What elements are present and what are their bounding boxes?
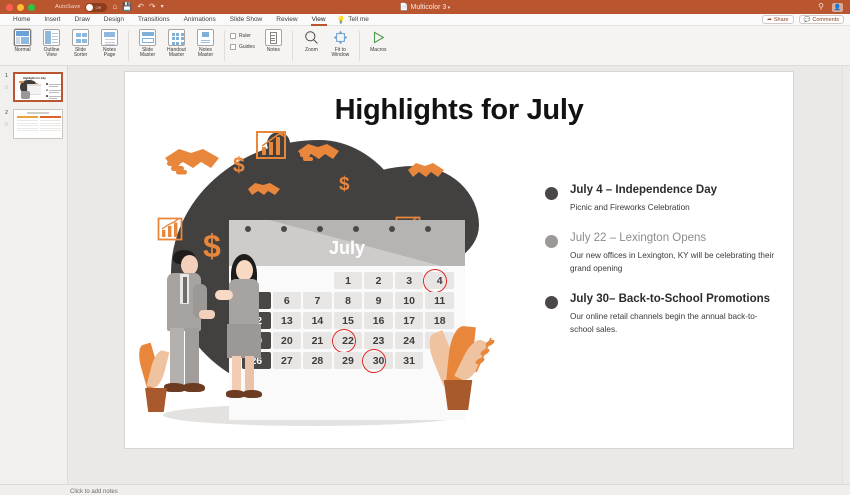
tab-draw[interactable]: Draw [68,14,97,26]
handshake-icon [163,144,225,178]
autosave-label: AutoSave [55,4,80,10]
normal-view-label: Normal [14,48,30,54]
thumb2-table-right [40,116,61,133]
calendar-rings [229,226,465,234]
window-controls[interactable] [0,4,35,11]
calendar-day: 29 [334,352,363,369]
ribbon-group-show: Ruler Guides Notes [225,29,292,65]
ribbon-group-master-views: Slide Master Handout Master Notes Master [129,29,224,65]
bullet-text-block: July 22 – Lexington OpensOur new offices… [570,232,777,275]
tell-me-label: Tell me [348,16,369,23]
show-checkboxes: Ruler Guides [230,29,255,50]
thumbnail-item-1[interactable]: 1 ☆ Highlights for July [0,70,67,107]
handout-master-icon [168,29,185,46]
calendar-day: 3 [395,272,424,289]
maximize-window-button[interactable] [28,4,35,11]
bullet-body: Our online retail channels begin the ann… [570,310,777,336]
slide-master-label: Slide Master [140,48,155,59]
tab-bar-actions: ➦ Share 💬 Comments [762,15,850,24]
bar-chart-icon [157,217,183,241]
calendar-day: 30 [364,352,393,369]
thumbnail-preview-2[interactable] [13,109,63,139]
slide-sorter-label: Slide Sorter [74,48,88,59]
handshake-icon [297,140,341,166]
account-icon[interactable]: 👤 [832,3,843,12]
close-window-button[interactable] [6,4,13,11]
autosave-toggle[interactable]: Off [85,3,107,12]
bullet-heading: July 30– Back-to-School Promotions [570,293,777,305]
presentation-file-icon: 📄 [400,4,409,11]
thumb1-bullet-dot-3 [46,95,48,97]
slide-title[interactable]: Highlights for July [125,94,793,127]
bullet-dot-icon [545,187,558,200]
fit-to-window-label: Fit to Window [331,48,349,59]
tab-review[interactable]: Review [269,14,304,26]
workspace: 1 ☆ Highlights for July [0,66,850,484]
notes-master-label: Notes Master [198,48,213,59]
autosave-state: Off [95,5,100,10]
thumbnail-preview-1[interactable]: Highlights for July [13,72,63,102]
bullet-text-block: July 4 – Independence DayPicnic and Fire… [570,184,717,214]
notes-page-button[interactable]: Notes Page [96,29,123,59]
thumb1-bullet-line-3 [49,96,61,97]
notes-toggle-label: Notes [267,48,280,54]
thumb1-bullet-line-1b [49,86,58,87]
thumb1-bullet-line-2b [49,92,59,93]
tab-home[interactable]: Home [6,14,37,26]
bullet-item[interactable]: July 4 – Independence DayPicnic and Fire… [545,184,777,214]
guides-label: Guides [239,44,255,50]
bullet-heading: July 22 – Lexington Opens [570,232,777,244]
calendar-day: 17 [395,312,424,329]
share-button[interactable]: ➦ Share [762,15,793,24]
calendar-day: 31 [395,352,424,369]
play-triangle-icon [370,29,387,46]
calendar-day: 15 [334,312,363,329]
save-icon[interactable]: 💾 [122,3,132,11]
slide-sorter-icon [72,29,89,46]
calendar-day: 21 [303,332,332,349]
thumb1-bullet-dot-2 [46,89,48,91]
bullet-dot-icon [545,296,558,309]
potted-plant-icon [137,344,177,414]
slide-sorter-button[interactable]: Slide Sorter [67,29,94,59]
thumb2-header [27,112,49,114]
slide-canvas[interactable]: Highlights for July [125,72,793,448]
slide-master-button[interactable]: Slide Master [134,29,161,59]
animation-star-icon[interactable]: ☆ [4,122,9,128]
minimize-window-button[interactable] [17,4,24,11]
tab-slide-show[interactable]: Slide Show [223,14,270,26]
comment-icon: 💬 [804,17,811,23]
calendar-day: 16 [364,312,393,329]
search-icon[interactable]: ⚲ [818,3,824,11]
business-woman-figure [217,254,279,412]
home-icon[interactable]: ⌂ [112,3,117,11]
flower-pot [441,380,475,410]
notes-toggle-button[interactable]: Notes [260,29,287,53]
calendar-day: 10 [395,292,424,309]
ribbon-group-zoom: Zoom Fit to Window [293,29,359,65]
zoom-label: Zoom [305,48,318,54]
thumb2-table-left-head [17,116,38,118]
undo-icon[interactable]: ↶ [137,3,144,11]
tab-design[interactable]: Design [97,14,131,26]
fit-window-icon [332,29,349,46]
calendar-day: 11 [425,292,454,309]
calendar-day: 9 [364,292,393,309]
comments-label: Comments [812,17,839,23]
thumb2-table-left [17,116,38,133]
lightbulb-icon: 💡 [337,16,346,24]
tab-transitions[interactable]: Transitions [131,14,177,26]
bullet-body: Our new offices in Lexington, KY will be… [570,249,777,275]
thumb1-bullet-dot-1 [46,83,48,85]
calendar-day: 4 [425,272,454,289]
normal-view-icon [14,29,31,46]
bullet-text-block: July 30– Back-to-School PromotionsOur on… [570,293,777,336]
calendar-day: 23 [364,332,393,349]
calendar-day: 22 [334,332,363,349]
notes-page-icon [101,29,118,46]
thumbnail-number: 1 [5,73,8,79]
handout-master-button[interactable]: Handout Master [163,29,190,59]
notes-icon [265,29,282,46]
fit-to-window-button[interactable]: Fit to Window [327,29,354,59]
notes-placeholder[interactable]: Click to add notes [70,489,118,495]
tab-animations[interactable]: Animations [177,14,223,26]
magnifier-icon [303,29,320,46]
ribbon-tab-bar: Home Insert Draw Design Transitions Anim… [0,14,850,26]
outline-view-label: Outline View [44,48,60,59]
notes-master-button[interactable]: Notes Master [192,29,219,59]
normal-view-button[interactable]: Normal [9,29,36,53]
title-bar-right: ⚲ 👤 [818,3,850,12]
ribbon-view-tab: Normal Outline View Slide Sorter Notes P… [0,26,850,66]
animation-star-icon[interactable]: ☆ [4,85,9,91]
thumbnail-item-2[interactable]: 2 ☆ [0,107,67,144]
ruler-label: Ruler [239,33,251,39]
more-icon[interactable]: ▾ [161,4,164,10]
calendar-day: 14 [303,312,332,329]
thumb1-people [21,91,30,99]
title-bar: AutoSave Off ⌂ 💾 ↶ ↷ ▾ 📄Multicolor 3 ▾ ⚲… [0,0,850,14]
bullet-body: Picnic and Fireworks Celebration [570,201,717,214]
calendar-day: 1 [334,272,363,289]
vertical-scrollbar[interactable] [842,66,850,484]
thumb1-bullet-line-3b [49,98,57,99]
guides-checkbox-row[interactable]: Guides [230,44,255,50]
notes-master-icon [197,29,214,46]
dollar-sign-icon: $ [339,174,350,196]
macros-button[interactable]: Macros [365,29,392,53]
thumb1-bullet-line-1 [49,84,61,85]
comments-button[interactable]: 💬 Comments [799,15,844,24]
thumbnail-meta-1: 1 ☆ [2,72,11,102]
bullet-item[interactable]: July 30– Back-to-School PromotionsOur on… [545,293,777,336]
notes-pane[interactable]: Click to add notes [0,484,850,495]
quick-access-toolbar[interactable]: AutoSave Off ⌂ 💾 ↶ ↷ ▾ [55,3,164,12]
ruler-checkbox[interactable] [230,33,236,39]
calendar-day: 28 [303,352,332,369]
outline-view-icon [43,29,60,46]
bullet-item[interactable]: July 22 – Lexington OpensOur new offices… [545,232,777,275]
handout-master-label: Handout Master [167,48,186,59]
guides-checkbox[interactable] [230,44,236,50]
calendar-day: 8 [334,292,363,309]
dollar-sign-icon: $ [233,154,245,178]
calendar-day: 24 [395,332,424,349]
thumbnail-number: 2 [5,110,8,116]
ribbon-group-presentation-views: Normal Outline View Slide Sorter Notes P… [4,29,128,65]
share-label: Share [774,17,789,23]
tab-insert[interactable]: Insert [37,14,67,26]
tell-me-search[interactable]: 💡 Tell me [337,16,369,24]
flower-pot [143,388,169,412]
notes-page-label: Notes Page [103,48,116,59]
handshake-icon [407,160,445,182]
slide-master-icon [139,29,156,46]
potted-plant-icon [427,322,497,414]
illustration[interactable]: $ $ $ [143,132,543,448]
zoom-button[interactable]: Zoom [298,29,325,53]
macros-label: Macros [370,48,386,54]
redo-icon[interactable]: ↷ [149,3,156,11]
outline-view-button[interactable]: Outline View [38,29,65,59]
ribbon-group-macros: Macros [360,29,397,65]
share-icon: ➦ [767,17,772,23]
slide-thumbnail-pane[interactable]: 1 ☆ Highlights for July [0,66,68,484]
calendar-day: 7 [303,292,332,309]
bullet-dot-icon [545,235,558,248]
bar-chart-icon [255,130,287,160]
ruler-checkbox-row[interactable]: Ruler [230,33,255,39]
thumb1-bullet-line-2 [49,90,61,91]
thumbnail-meta-2: 2 ☆ [2,109,11,139]
tab-view[interactable]: View [305,14,333,26]
bullet-list[interactable]: July 4 – Independence DayPicnic and Fire… [545,184,777,354]
thumb1-handshake [19,81,24,83]
calendar-day: 2 [364,272,393,289]
slide-editing-pane[interactable]: Highlights for July [68,66,850,484]
calendar-day-empty [303,272,332,289]
autosave-knob [86,4,93,11]
handshake-icon [247,180,281,200]
thumb2-table-right-head [40,116,61,118]
bullet-heading: July 4 – Independence Day [570,184,717,196]
document-name: Multicolor 3 [411,4,447,11]
